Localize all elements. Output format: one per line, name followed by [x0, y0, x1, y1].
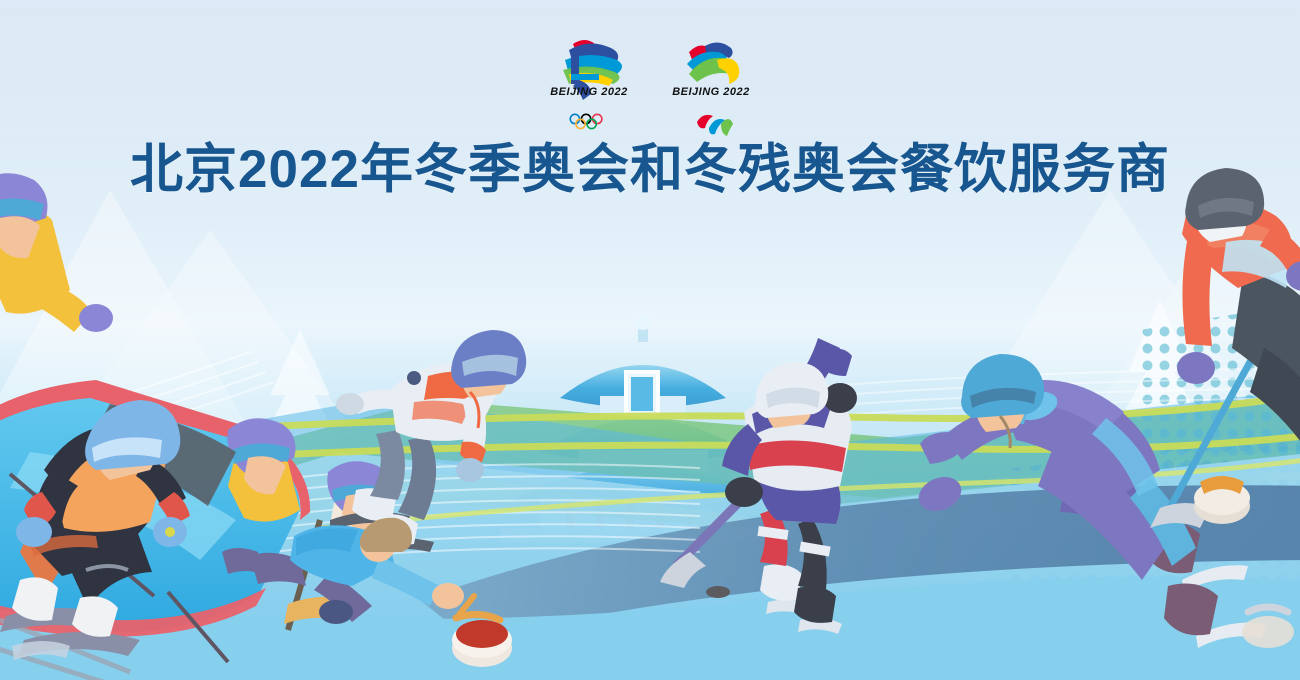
agitos [697, 115, 733, 136]
page-title: 北京2022年冬季奥会和冬残奥会餐饮服务商 [0, 140, 1300, 201]
short-track-skater [330, 330, 526, 556]
olympic-wordmark: BEIJING 2022 [539, 86, 639, 98]
paralympic-wordmark: BEIJING 2022 [661, 86, 761, 98]
ice-hockey-player [660, 338, 857, 634]
beijing-2022-banner: BEIJING 2022 BEIJING 2022 [0, 0, 1300, 680]
olympic-emblem: BEIJING 2022 [539, 30, 639, 138]
paralympic-emblem-mark [687, 42, 739, 84]
title-wrap: 北京2022年冬季奥会和冬残奥会餐饮服务商 [0, 140, 1300, 201]
paralympic-emblem: BEIJING 2022 [661, 30, 761, 138]
olympic-rings [570, 114, 602, 128]
emblem-row: BEIJING 2022 BEIJING 2022 [0, 30, 1300, 138]
